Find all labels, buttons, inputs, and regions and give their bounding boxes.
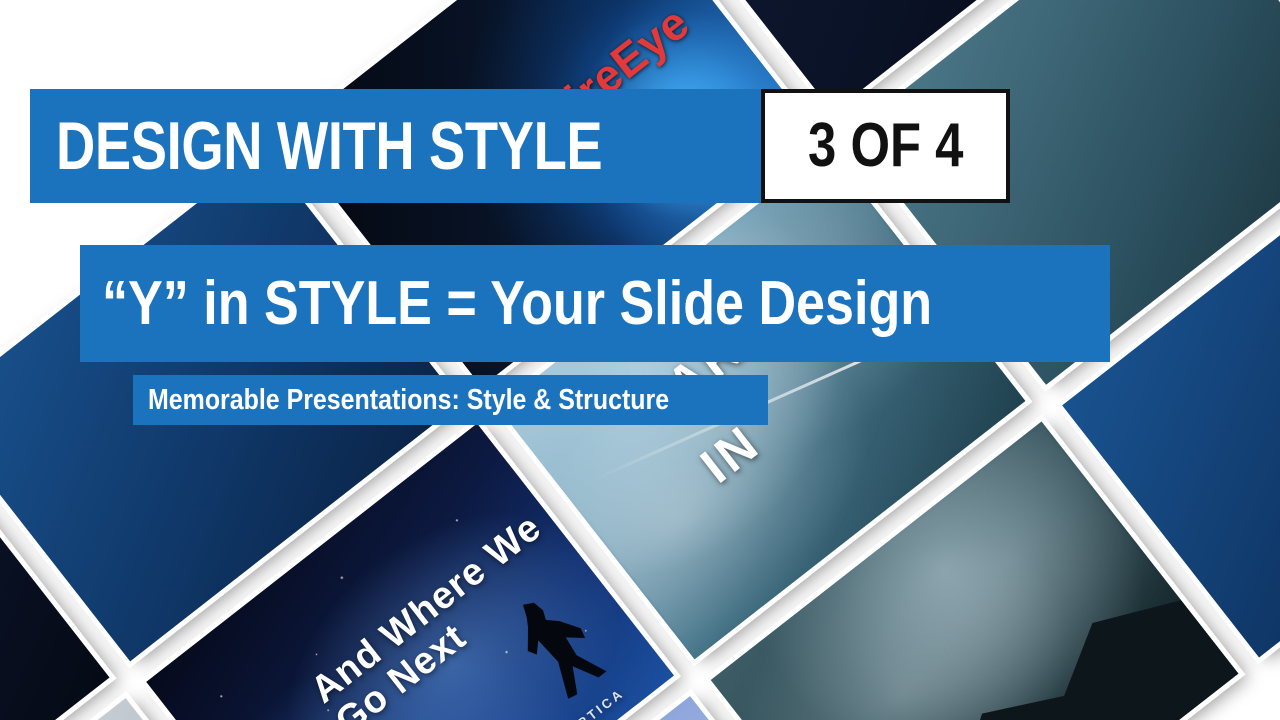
subtitle-text: “Y” in STYLE = Your Slide Design <box>102 273 932 335</box>
page-title: DESIGN WITH STYLE <box>56 112 602 180</box>
kicker-text: Memorable Presentations: Style & Structu… <box>148 386 669 415</box>
part-counter-badge: 3 OF 4 <box>761 89 1011 203</box>
title-row: DESIGN WITH STYLE 3 OF 4 <box>30 89 1010 203</box>
part-counter-label: 3 OF 4 <box>808 115 963 177</box>
subtitle-bar: “Y” in STYLE = Your Slide Design <box>80 245 1110 362</box>
kicker-bar: Memorable Presentations: Style & Structu… <box>133 375 768 425</box>
slide-canvas: FireEye And Where We Go Next VERTICA TAK… <box>0 0 1280 720</box>
title-bar: DESIGN WITH STYLE <box>30 89 761 203</box>
